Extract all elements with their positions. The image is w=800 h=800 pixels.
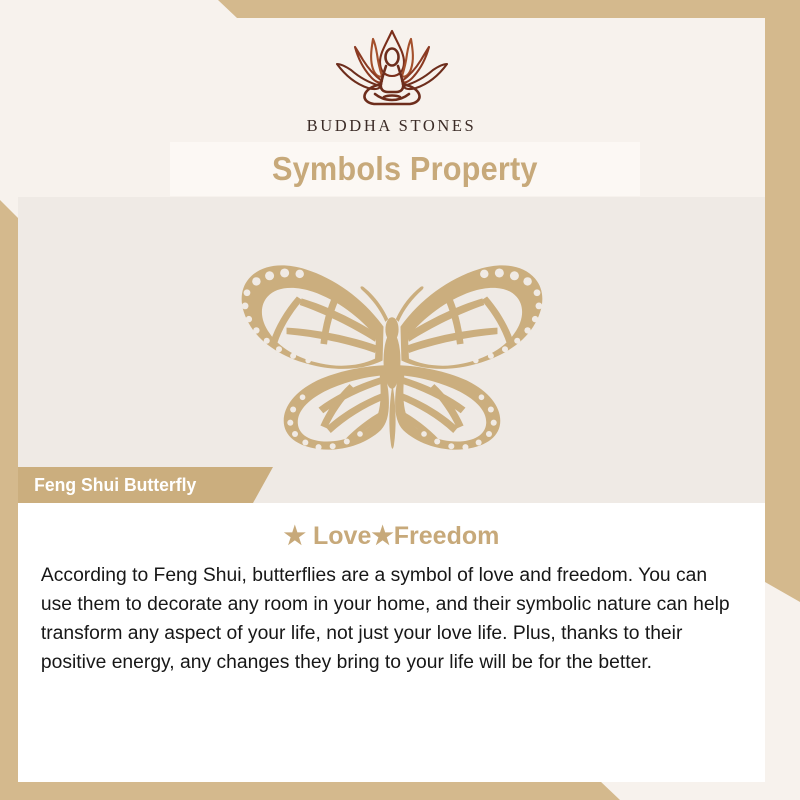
content-sheet: BUDDHA STONES Symbols Property (18, 18, 765, 782)
description-paragraph: According to Feng Shui, butterflies are … (34, 561, 738, 677)
decorative-bottom-bar (0, 781, 620, 800)
category-tag-banner: Feng Shui Butterfly (18, 467, 273, 503)
butterfly-icon (202, 240, 582, 466)
brand-name: BUDDHA STONES (307, 116, 477, 136)
category-tag-label: Feng Shui Butterfly (18, 474, 196, 496)
lotus-meditation-icon (318, 26, 466, 112)
description-panel: ★ Love★Freedom According to Feng Shui, b… (18, 503, 765, 782)
title-banner: Symbols Property (170, 142, 640, 196)
decorative-right-bar (765, 0, 800, 602)
brand-logo-block: BUDDHA STONES (18, 18, 765, 146)
artwork-panel (18, 197, 765, 503)
decorative-left-bar (0, 200, 18, 800)
infographic-page: BUDDHA STONES Symbols Property (0, 0, 800, 800)
decorative-top-band (0, 0, 800, 18)
page-title: Symbols Property (272, 150, 538, 188)
keywords-heading: ★ Love★Freedom (34, 521, 749, 551)
